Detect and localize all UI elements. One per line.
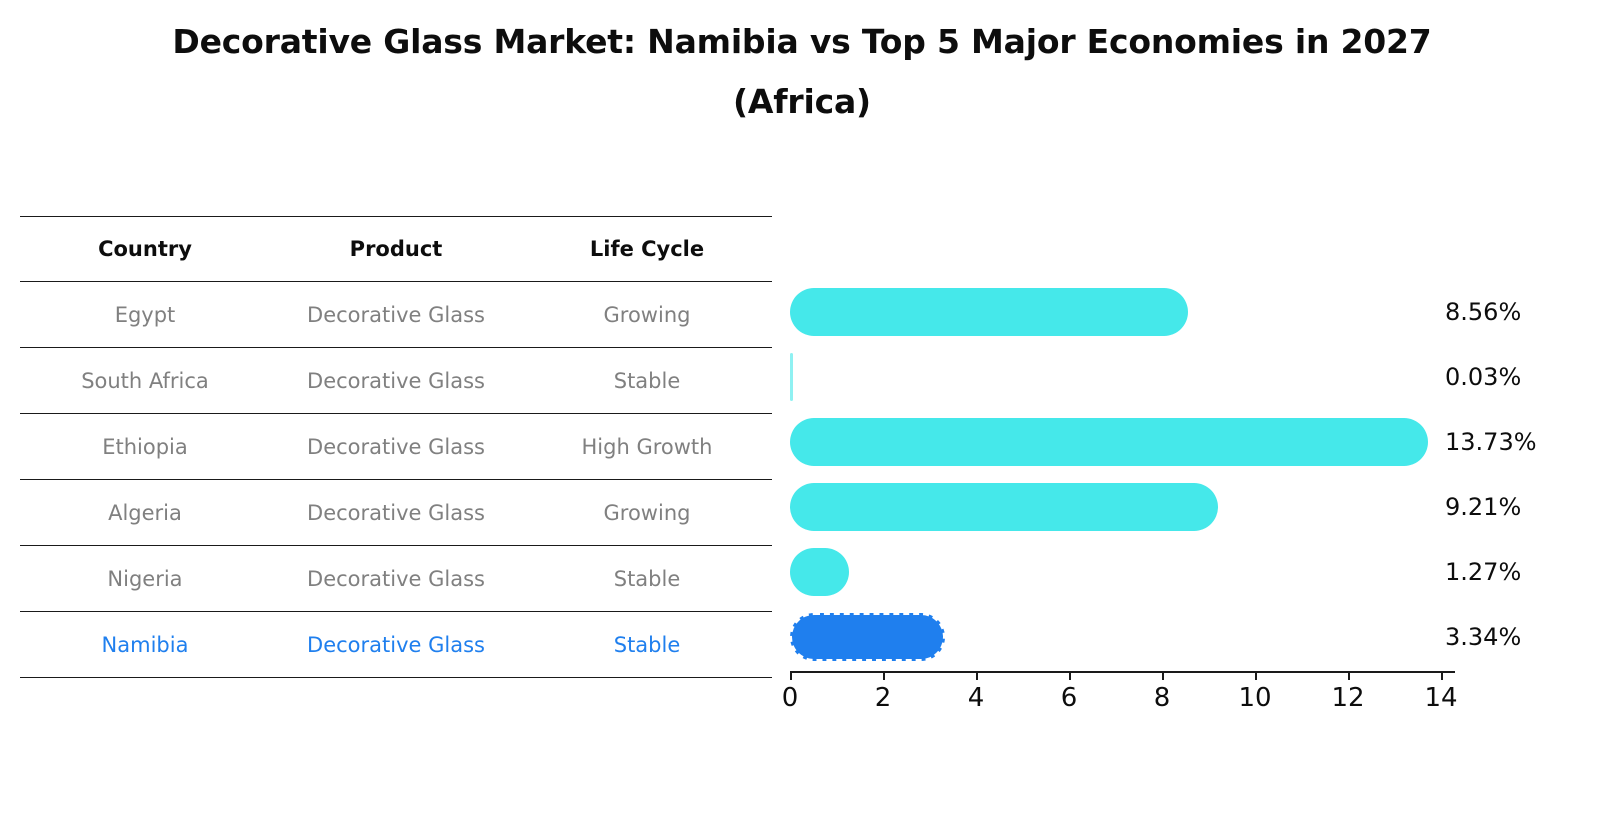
table-row: South Africa Decorative Glass Stable (20, 348, 772, 414)
chart-title-line-1: Decorative Glass Market: Namibia vs Top … (0, 12, 1604, 72)
bar-row: 0.03% (773, 345, 1473, 410)
cell-product: Decorative Glass (270, 282, 522, 348)
bar (790, 483, 1218, 531)
table-header-row: Country Product Life Cycle (20, 217, 772, 282)
cell-life-cycle: High Growth (522, 414, 772, 480)
cell-product: Decorative Glass (270, 414, 522, 480)
chart-title: Decorative Glass Market: Namibia vs Top … (0, 12, 1604, 132)
x-axis-tick-label: 0 (782, 683, 799, 713)
x-axis-tick (883, 671, 885, 680)
bar (790, 288, 1188, 336)
bar-value-label: 0.03% (1445, 345, 1521, 410)
cell-life-cycle: Stable (522, 546, 772, 612)
table-footer-cell (20, 678, 270, 709)
x-axis-tick (1162, 671, 1164, 680)
cell-country: South Africa (20, 348, 270, 414)
bar-row: 13.73% (773, 410, 1473, 475)
table-footer-cell (522, 678, 772, 709)
cell-life-cycle: Stable (522, 348, 772, 414)
x-axis-tick-label: 8 (1154, 683, 1171, 713)
bar-value-label: 8.56% (1445, 280, 1521, 345)
table-footer (20, 678, 772, 709)
bar (790, 353, 793, 401)
x-axis-tick (1069, 671, 1071, 680)
x-axis-tick (1348, 671, 1350, 680)
cell-product: Decorative Glass (270, 480, 522, 546)
table-row: Egypt Decorative Glass Growing (20, 282, 772, 348)
table-row: Ethiopia Decorative Glass High Growth (20, 414, 772, 480)
x-axis: 02468101214 (773, 671, 1473, 741)
bar-value-label: 3.34% (1445, 605, 1521, 670)
bar (790, 548, 849, 596)
x-axis-tick (976, 671, 978, 680)
x-axis-tick-label: 10 (1238, 683, 1271, 713)
bar-highlighted (790, 613, 945, 661)
cell-life-cycle: Growing (522, 480, 772, 546)
cell-product: Decorative Glass (270, 348, 522, 414)
country-table: Country Product Life Cycle Egypt Decorat… (20, 216, 772, 708)
x-axis-tick (790, 671, 792, 680)
column-header-country: Country (20, 217, 270, 282)
table-row-highlighted: Namibia Decorative Glass Stable (20, 612, 772, 678)
cell-life-cycle: Growing (522, 282, 772, 348)
bar-value-label: 13.73% (1445, 410, 1537, 475)
column-header-product: Product (270, 217, 522, 282)
cell-product: Decorative Glass (270, 546, 522, 612)
bar-row: 3.34% (773, 605, 1473, 670)
x-axis-tick-label: 14 (1425, 683, 1458, 713)
cell-country: Egypt (20, 282, 270, 348)
chart-title-line-2: (Africa) (0, 72, 1604, 132)
x-axis-tick-label: 12 (1331, 683, 1364, 713)
x-axis-tick-label: 4 (968, 683, 985, 713)
bar-value-label: 1.27% (1445, 540, 1521, 605)
x-axis-line (790, 671, 1455, 673)
table-row: Algeria Decorative Glass Growing (20, 480, 772, 546)
x-axis-tick-label: 6 (1061, 683, 1078, 713)
bar-row: 1.27% (773, 540, 1473, 605)
cell-life-cycle: Stable (522, 612, 772, 678)
table-row: Nigeria Decorative Glass Stable (20, 546, 772, 612)
table-footer-cell (270, 678, 522, 709)
bar-chart-panel: 8.56%0.03%13.73%9.21%1.27%3.34% 02468101… (773, 216, 1473, 686)
x-axis-tick (1441, 671, 1443, 680)
table-header: Country Product Life Cycle (20, 217, 772, 282)
cell-product: Decorative Glass (270, 612, 522, 678)
column-header-life-cycle: Life Cycle (522, 217, 772, 282)
bar-row: 9.21% (773, 475, 1473, 540)
cell-country: Nigeria (20, 546, 270, 612)
x-axis-tick (1255, 671, 1257, 680)
table-body: Egypt Decorative Glass Growing South Afr… (20, 282, 772, 678)
country-table-panel: Country Product Life Cycle Egypt Decorat… (20, 216, 772, 708)
cell-country: Algeria (20, 480, 270, 546)
bar-value-label: 9.21% (1445, 475, 1521, 540)
cell-country: Namibia (20, 612, 270, 678)
bar-series: 8.56%0.03%13.73%9.21%1.27%3.34% (773, 280, 1473, 670)
bar-row: 8.56% (773, 280, 1473, 345)
bar (790, 418, 1428, 466)
x-axis-tick-label: 2 (875, 683, 892, 713)
table-footer-row (20, 678, 772, 709)
cell-country: Ethiopia (20, 414, 270, 480)
chart-figure: Decorative Glass Market: Namibia vs Top … (0, 0, 1604, 823)
